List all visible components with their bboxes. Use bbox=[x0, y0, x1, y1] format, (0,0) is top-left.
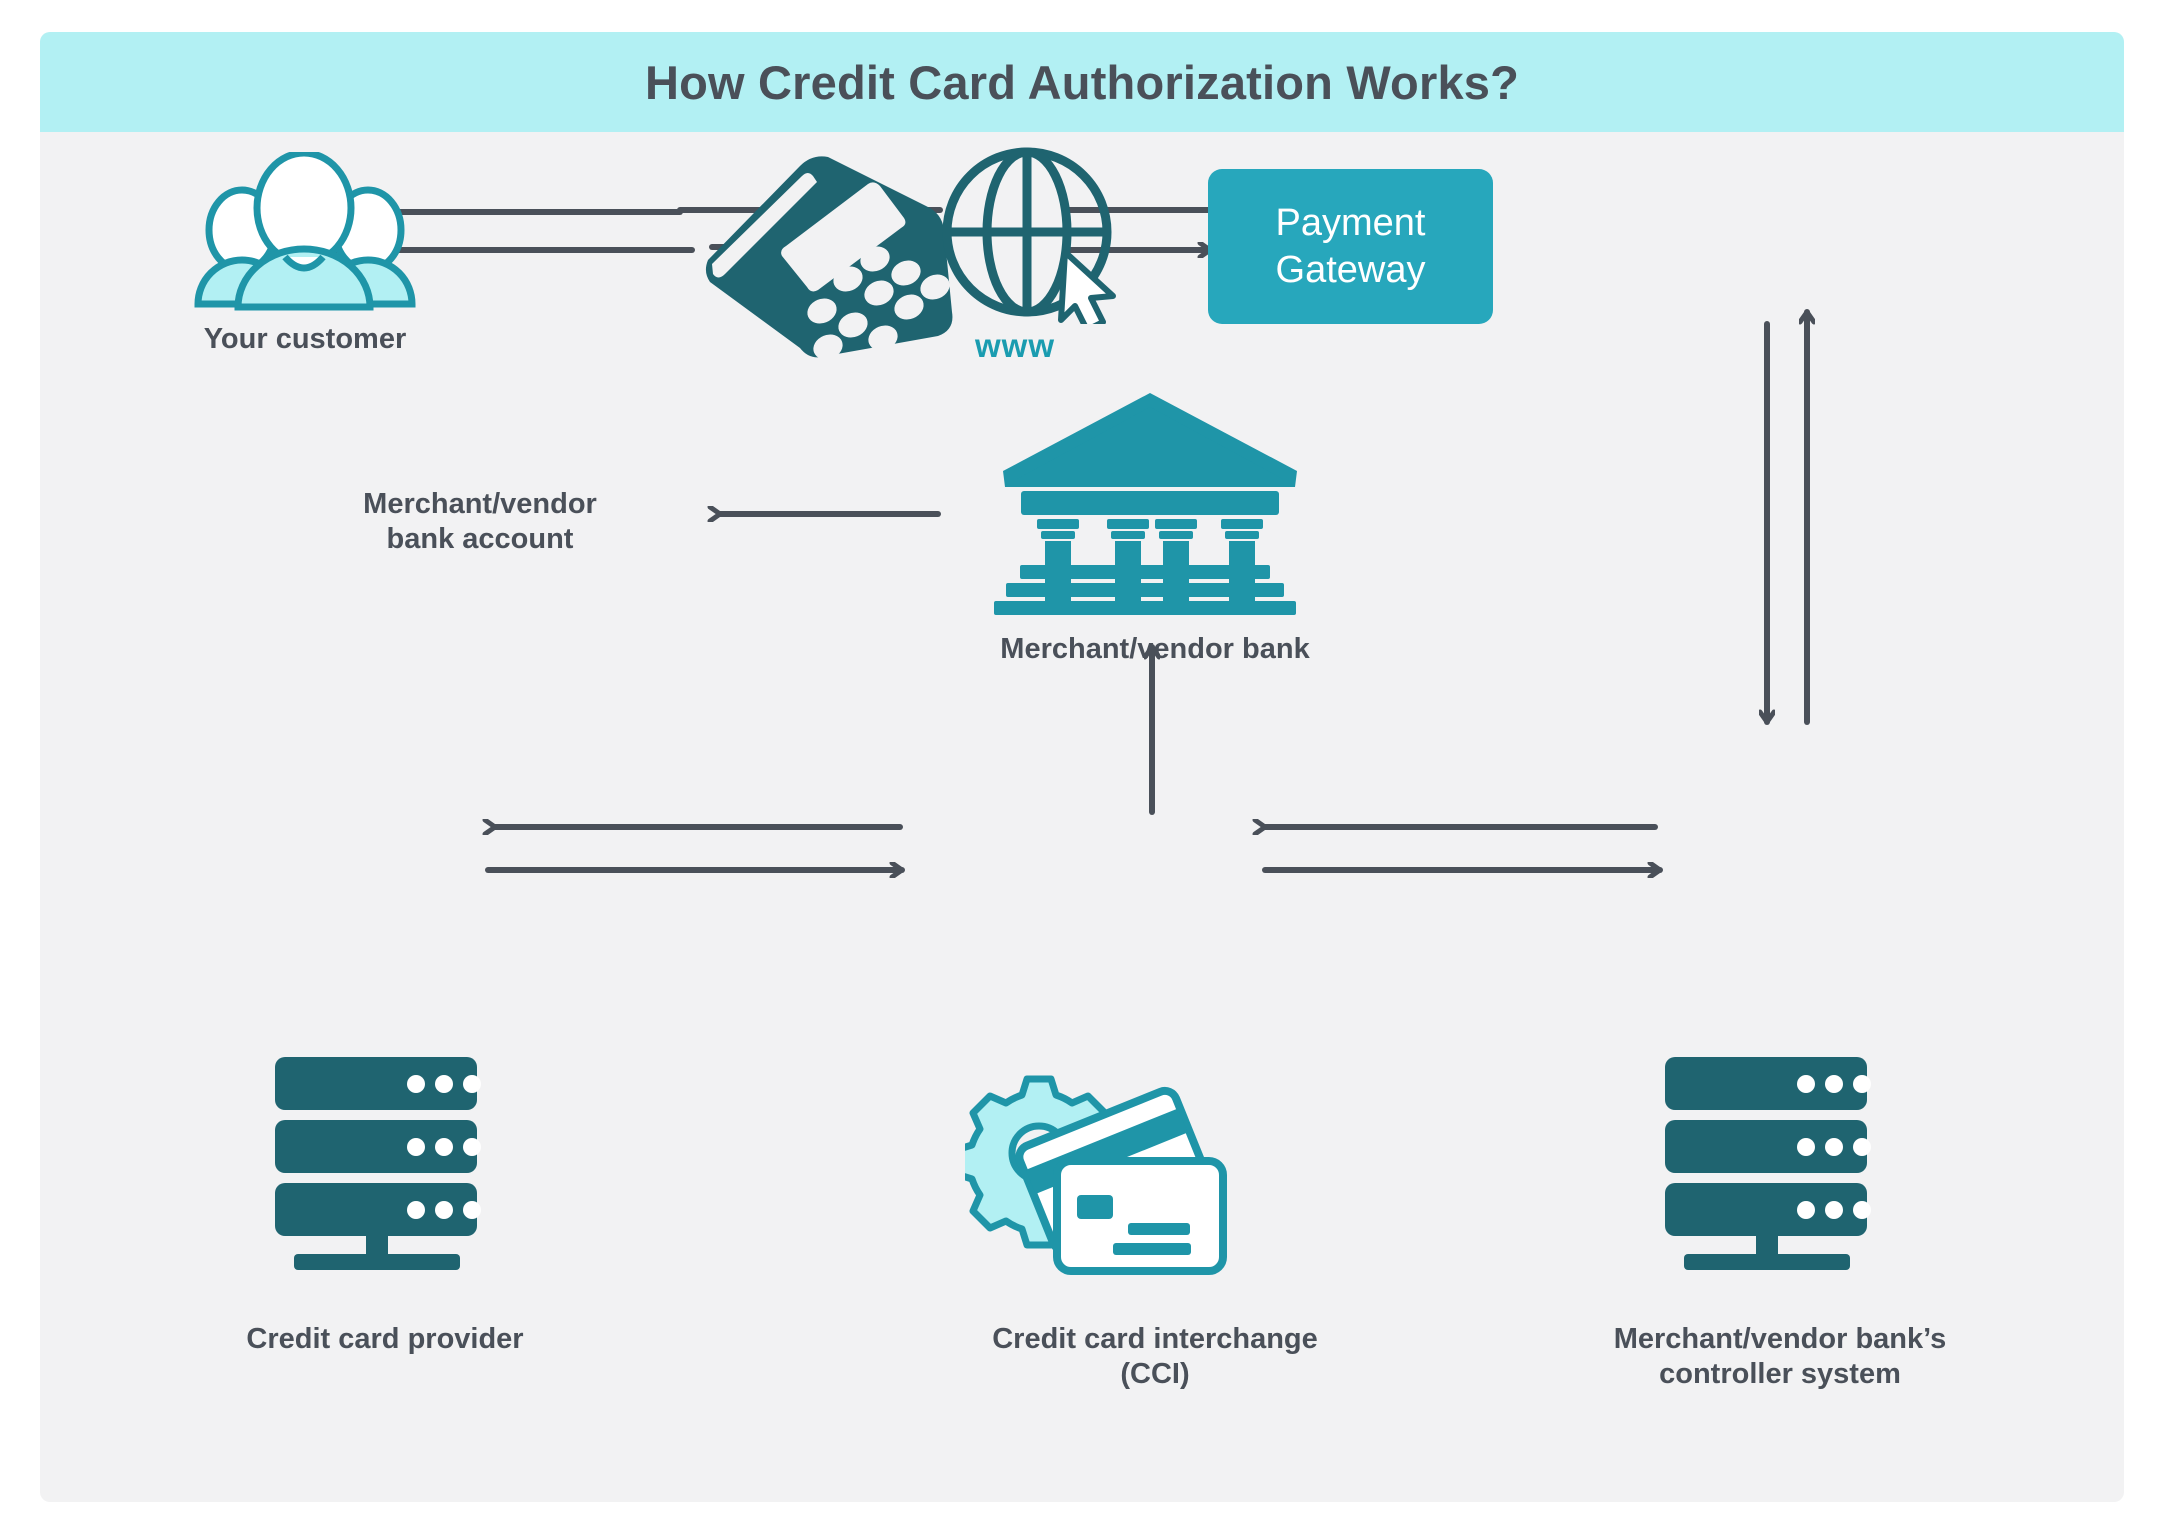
cci-line1: Credit card interchange bbox=[992, 1323, 1318, 1355]
bank-controller-line1: Merchant/vendor bank’s bbox=[1614, 1323, 1947, 1355]
payment-gateway-text: Payment Gateway bbox=[1276, 200, 1426, 293]
credit-card-provider-label: Credit card provider bbox=[140, 1322, 630, 1357]
merchant-bank-account-line2: bank account bbox=[387, 523, 574, 555]
bank-controller-line2: controller system bbox=[1659, 1358, 1901, 1390]
merchant-bank-label: Merchant/vendor bank bbox=[875, 632, 1435, 667]
www-label: www bbox=[975, 327, 1055, 365]
server-stack-icon bbox=[270, 1057, 500, 1272]
payment-gateway-line1: Payment bbox=[1276, 202, 1426, 244]
payment-gateway-box[interactable]: Payment Gateway bbox=[1208, 169, 1493, 324]
cci-label: Credit card interchange (CCI) bbox=[875, 1322, 1435, 1393]
cci-line2: (CCI) bbox=[1120, 1358, 1189, 1390]
globe-cursor-icon bbox=[935, 144, 1135, 324]
merchant-bank-account-line1: Merchant/vendor bbox=[363, 488, 597, 520]
bank-controller-label: Merchant/vendor bank’s controller system bbox=[1520, 1322, 2040, 1393]
front-card-icon bbox=[1057, 1161, 1223, 1271]
payment-gateway-line2: Gateway bbox=[1276, 249, 1426, 291]
pos-terminal-icon bbox=[690, 142, 970, 362]
title-bar: How Credit Card Authorization Works? bbox=[40, 32, 2124, 132]
customer-label: Your customer bbox=[100, 322, 510, 357]
people-group-icon bbox=[190, 152, 420, 312]
diagram-card: How Credit Card Authorization Works? bbox=[40, 32, 2124, 1502]
bank-base-icon bbox=[990, 565, 1310, 615]
merchant-bank-account-label: Merchant/vendor bank account bbox=[255, 487, 705, 558]
gear-credit-cards-icon bbox=[965, 1067, 1235, 1282]
server-stack-icon bbox=[1660, 1057, 1890, 1272]
page-title: How Credit Card Authorization Works? bbox=[645, 55, 1519, 110]
infographic-page: How Credit Card Authorization Works? bbox=[0, 0, 2164, 1537]
